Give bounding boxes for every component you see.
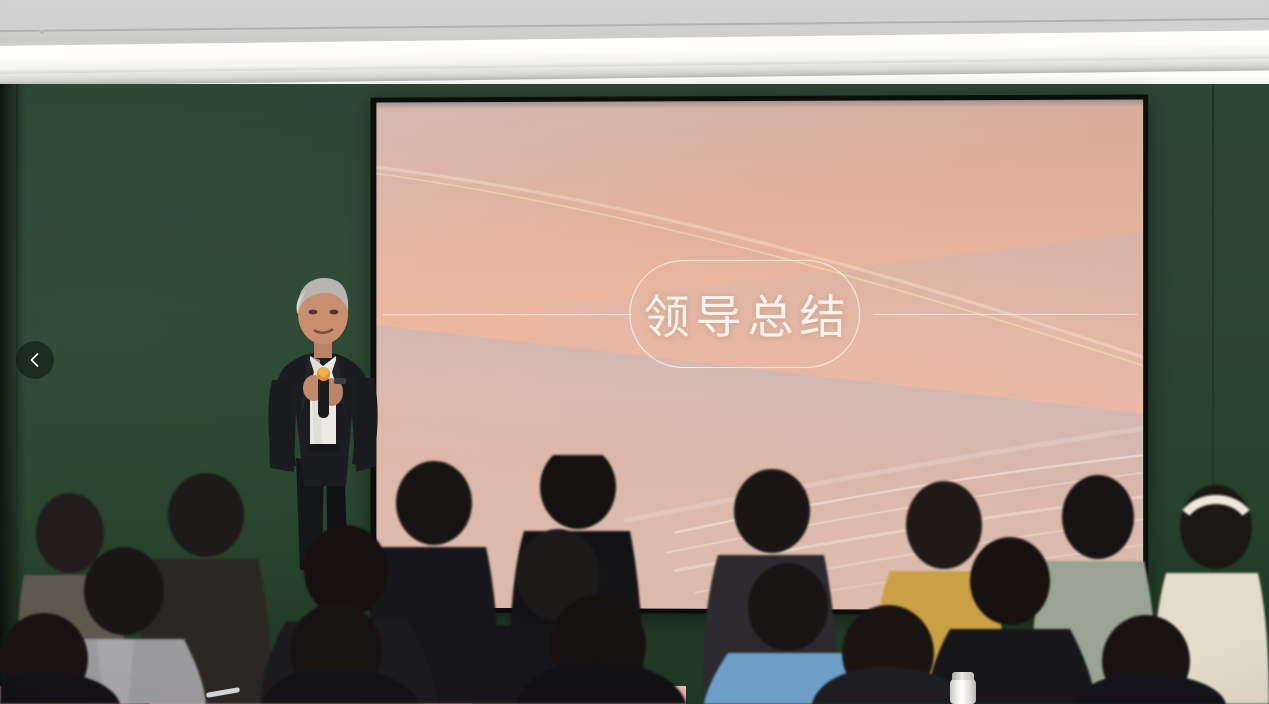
ceiling-seam [0, 18, 1269, 32]
presentation-photo-scene: 领导总结 [0, 0, 1269, 704]
previous-image-button[interactable] [16, 341, 54, 379]
slide-title-text: 领导总结 [638, 281, 852, 347]
audience-group [0, 455, 1269, 704]
water-bottle [950, 678, 976, 704]
slide-title-rule-right [873, 314, 1137, 315]
ceiling-screw [40, 30, 44, 34]
water-bottle-cap [952, 672, 974, 680]
chevron-left-icon [27, 352, 43, 368]
slide-title-rule-left [382, 314, 632, 315]
slide-title-pill: 领导总结 [629, 260, 860, 368]
